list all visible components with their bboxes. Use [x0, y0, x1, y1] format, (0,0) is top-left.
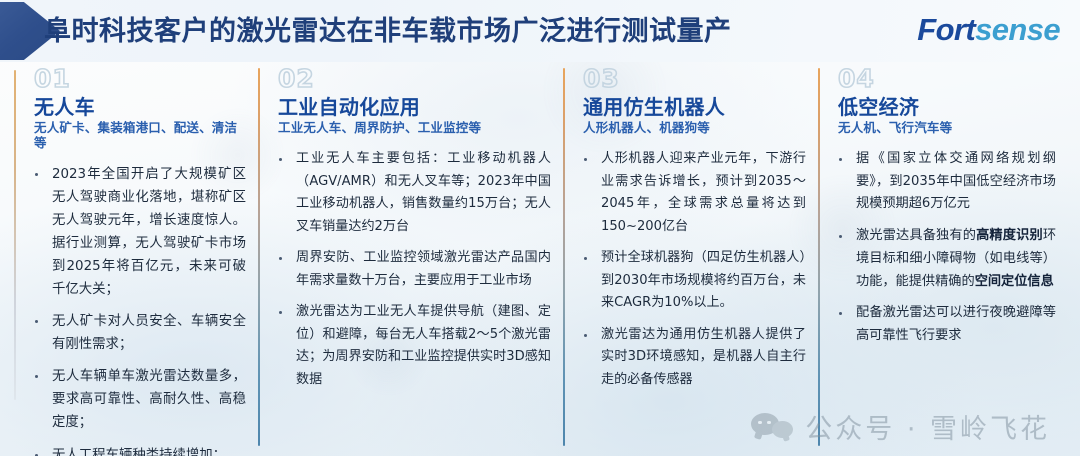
list-item: 无人矿卡对人员安全、车辆安全有刚性需求；	[32, 310, 246, 356]
bullet-list: 人形机器人迎来产业元年，下游行业需求告诉增长，预计到2035～2045年，全球需…	[581, 148, 806, 391]
list-item: 激光雷达具备独有的高精度识别环境目标和细小障碍物（如电线等）功能，能提供精确的空…	[836, 225, 1056, 293]
column-number: 03	[583, 66, 806, 91]
list-item: 人形机器人迎来产业元年，下游行业需求告诉增长，预计到2035～2045年，全球需…	[581, 148, 806, 238]
logo-text-sense: sense	[975, 12, 1060, 47]
list-item: 无人车辆单车激光雷达数量多，要求高可靠性、高耐久性、高稳定度；	[32, 365, 246, 434]
list-item: 激光雷达为工业无人车提供导航（建图、定位）和避障，每台无人车搭载2～5个激光雷达…	[276, 301, 551, 391]
column-subtitle: 工业无人车、周界防护、工业监控等	[278, 121, 551, 136]
column-low-altitude-economy: 04 低空经济 无人机、飞行汽车等 据《国家立体交通网络规划纲要》，到2035年…	[818, 62, 1068, 456]
list-item: 2023年全国开启了大规模矿区无人驾驶商业化落地，堪称矿区无人驾驶元年，增长速度…	[32, 163, 246, 301]
column-subtitle: 人形机器人、机器狗等	[583, 121, 806, 136]
page-title: 阜时科技客户的激光雷达在非车载市场广泛进行测试量产	[44, 0, 732, 62]
column-number: 02	[278, 66, 551, 91]
list-item: 无人工程车辆种类持续增加；	[32, 444, 246, 456]
fortsense-logo: Fortsense	[917, 12, 1060, 48]
column-title: 无人车	[34, 97, 246, 120]
column-number: 04	[838, 66, 1056, 91]
bullet-list: 工业无人车主要包括：工业移动机器人（AGV/AMR）和无人叉车等；2023年中国…	[276, 148, 551, 391]
logo-text-fort: Fort	[917, 12, 975, 47]
list-item: 配备激光雷达可以进行夜晚避障等高可靠性飞行要求	[836, 302, 1056, 347]
column-number: 01	[34, 66, 246, 91]
column-unmanned-vehicles: 01 无人车 无人矿卡、集装箱港口、配送、清洁等 2023年全国开启了大规模矿区…	[14, 62, 258, 456]
column-title: 工业自动化应用	[278, 97, 551, 120]
column-subtitle: 无人机、飞行汽车等	[838, 121, 1056, 136]
column-title: 通用仿生机器人	[583, 97, 806, 120]
columns-container: 01 无人车 无人矿卡、集装箱港口、配送、清洁等 2023年全国开启了大规模矿区…	[0, 62, 1080, 456]
list-item: 据《国家立体交通网络规划纲要》，到2035年中国低空经济市场规模预期超6万亿元	[836, 148, 1056, 216]
column-industrial-automation: 02 工业自动化应用 工业无人车、周界防护、工业监控等 工业无人车主要包括：工业…	[258, 62, 563, 456]
slide-root: 阜时科技客户的激光雷达在非车载市场广泛进行测试量产 Fortsense 01 无…	[0, 0, 1080, 456]
bullet-list: 据《国家立体交通网络规划纲要》，到2035年中国低空经济市场规模预期超6万亿元 …	[836, 148, 1056, 348]
list-item: 周界安防、工业监控领域激光雷达产品国内年需求量数十万台，主要应用于工业市场	[276, 247, 551, 292]
column-title: 低空经济	[838, 97, 1056, 120]
list-item: 工业无人车主要包括：工业移动机器人（AGV/AMR）和无人叉车等；2023年中国…	[276, 148, 551, 238]
column-bionic-robots: 03 通用仿生机器人 人形机器人、机器狗等 人形机器人迎来产业元年，下游行业需求…	[563, 62, 818, 456]
slide-header: 阜时科技客户的激光雷达在非车载市场广泛进行测试量产 Fortsense	[0, 0, 1080, 62]
list-item: 预计全球机器狗（四足仿生机器人）到2030年市场规模将约百万台，未来CAGR为1…	[581, 247, 806, 315]
column-subtitle: 无人矿卡、集装箱港口、配送、清洁等	[34, 121, 246, 151]
list-item: 激光雷达为通用仿生机器人提供了实时3D环境感知，是机器人自主行走的必备传感器	[581, 324, 806, 392]
bullet-list: 2023年全国开启了大规模矿区无人驾驶商业化落地，堪称矿区无人驾驶元年，增长速度…	[32, 163, 246, 456]
